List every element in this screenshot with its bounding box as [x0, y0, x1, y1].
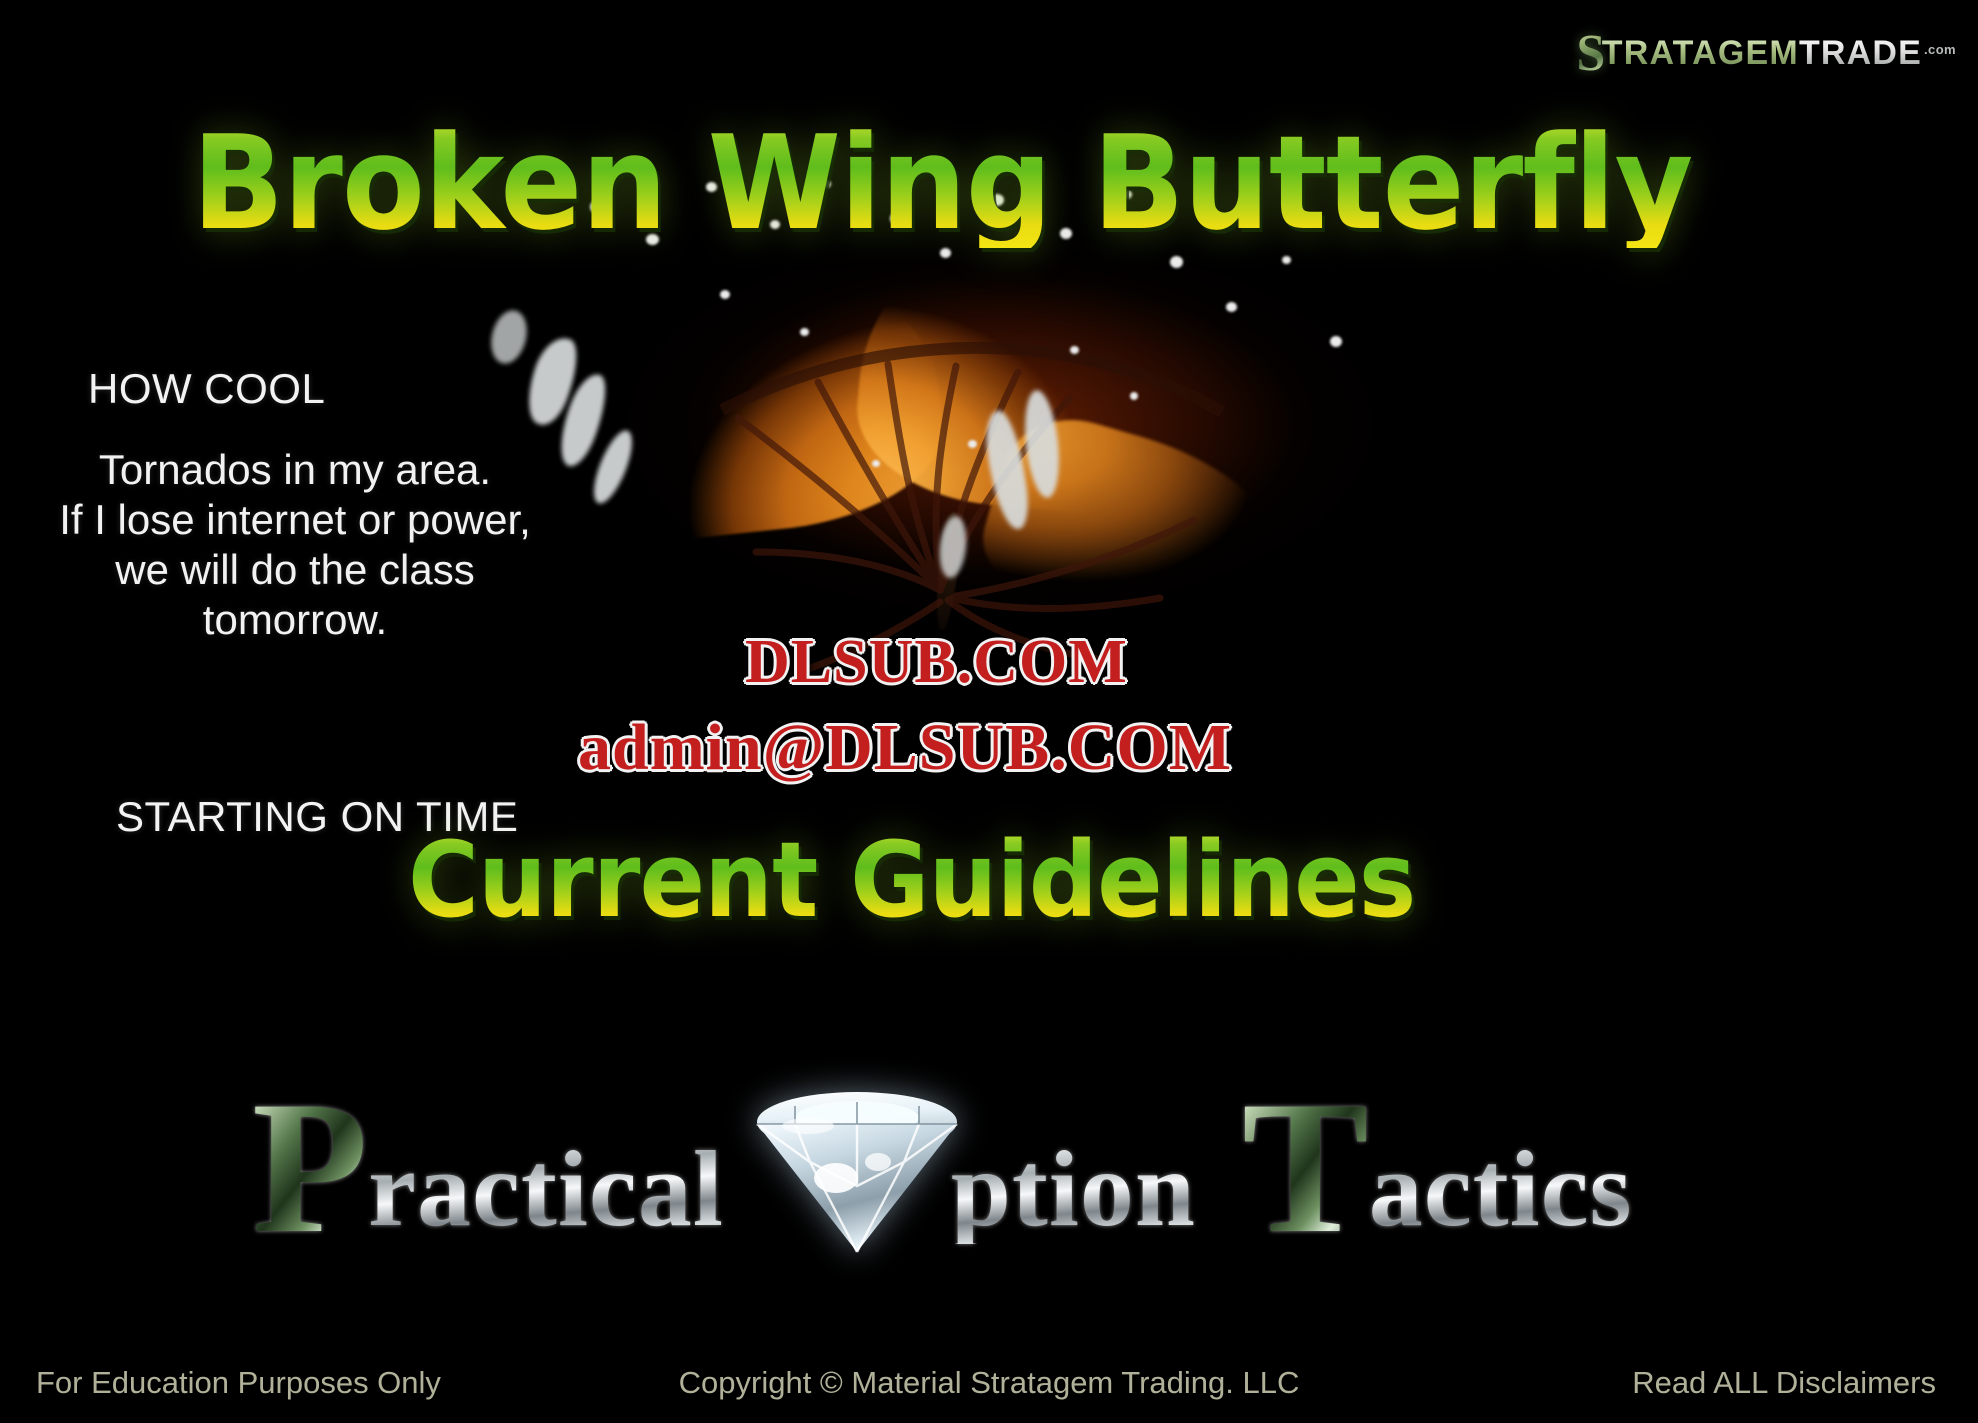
- butterfly-wing-right: [850, 243, 1171, 518]
- notice-line: we will do the class: [30, 545, 560, 595]
- butterfly-pale-band: [937, 515, 969, 579]
- notice-line: tomorrow.: [30, 595, 560, 645]
- logo-word-tactics: T actics: [1242, 1087, 1633, 1250]
- butterfly-pale-band: [1020, 389, 1063, 500]
- butterfly-spot: [1226, 302, 1237, 312]
- logo-capital-t: T: [1242, 1087, 1369, 1250]
- butterfly-spot: [800, 328, 809, 336]
- butterfly-pale-band: [486, 307, 532, 368]
- stratagem-trade-logo[interactable]: S TRATAGEM TRADE .com: [1576, 22, 1956, 74]
- footer-copyright: Copyright © Material Stratagem Trading. …: [679, 1365, 1300, 1401]
- practical-option-tactics-logo[interactable]: P ractical: [252, 1035, 1742, 1250]
- butterfly-pale-band: [551, 369, 616, 471]
- butterfly-spot: [720, 290, 730, 299]
- logo-text-ractical: ractical: [368, 1136, 724, 1244]
- watermark-email: admin@DLSUB.COM: [578, 710, 1232, 786]
- notice-line: If I lose internet or power,: [30, 495, 560, 545]
- logo-text-actics: actics: [1369, 1136, 1633, 1244]
- butterfly-pale-band: [586, 426, 639, 508]
- how-cool-label: HOW COOL: [88, 365, 325, 413]
- butterfly-spot: [1070, 346, 1079, 354]
- watermark-site: DLSUB.COM: [745, 627, 1128, 698]
- butterfly-spot: [1130, 392, 1138, 400]
- logo-word-option: ption: [724, 1060, 1196, 1250]
- butterfly-pale-band: [519, 332, 585, 430]
- butterfly-wing-lower-right: [971, 402, 1309, 658]
- presentation-slide: S TRATAGEM TRADE .com Broken Wing Butter…: [0, 0, 1978, 1423]
- butterfly-pale-band: [982, 408, 1032, 532]
- butterfly-spot: [872, 460, 880, 467]
- butterfly-wing-left: [578, 262, 952, 547]
- logo-capital-p: P: [252, 1087, 368, 1250]
- diamond-icon: [750, 1066, 965, 1256]
- butterfly-spot: [968, 440, 977, 448]
- footer-disclaimer-notice: Read ALL Disclaimers: [1632, 1365, 1936, 1401]
- page-title: Broken Wing Butterfly: [192, 118, 1692, 248]
- butterfly-spot: [1330, 336, 1342, 347]
- logo-word-practical: P ractical: [252, 1087, 724, 1250]
- footer-education-notice: For Education Purposes Only: [36, 1365, 441, 1401]
- logo-tld: .com: [1924, 42, 1956, 57]
- page-subtitle: Current Guidelines: [408, 828, 1415, 932]
- logo-word-stratagem: TRATAGEM: [1602, 34, 1799, 73]
- notice-line: Tornados in my area.: [30, 445, 560, 495]
- logo-initial: S: [1576, 28, 1605, 80]
- butterfly-body: [932, 511, 964, 630]
- logo-word-trade: TRADE: [1799, 34, 1922, 73]
- tornado-notice: Tornados in my area. If I lose internet …: [30, 445, 560, 645]
- logo-text-ption: ption: [951, 1136, 1196, 1244]
